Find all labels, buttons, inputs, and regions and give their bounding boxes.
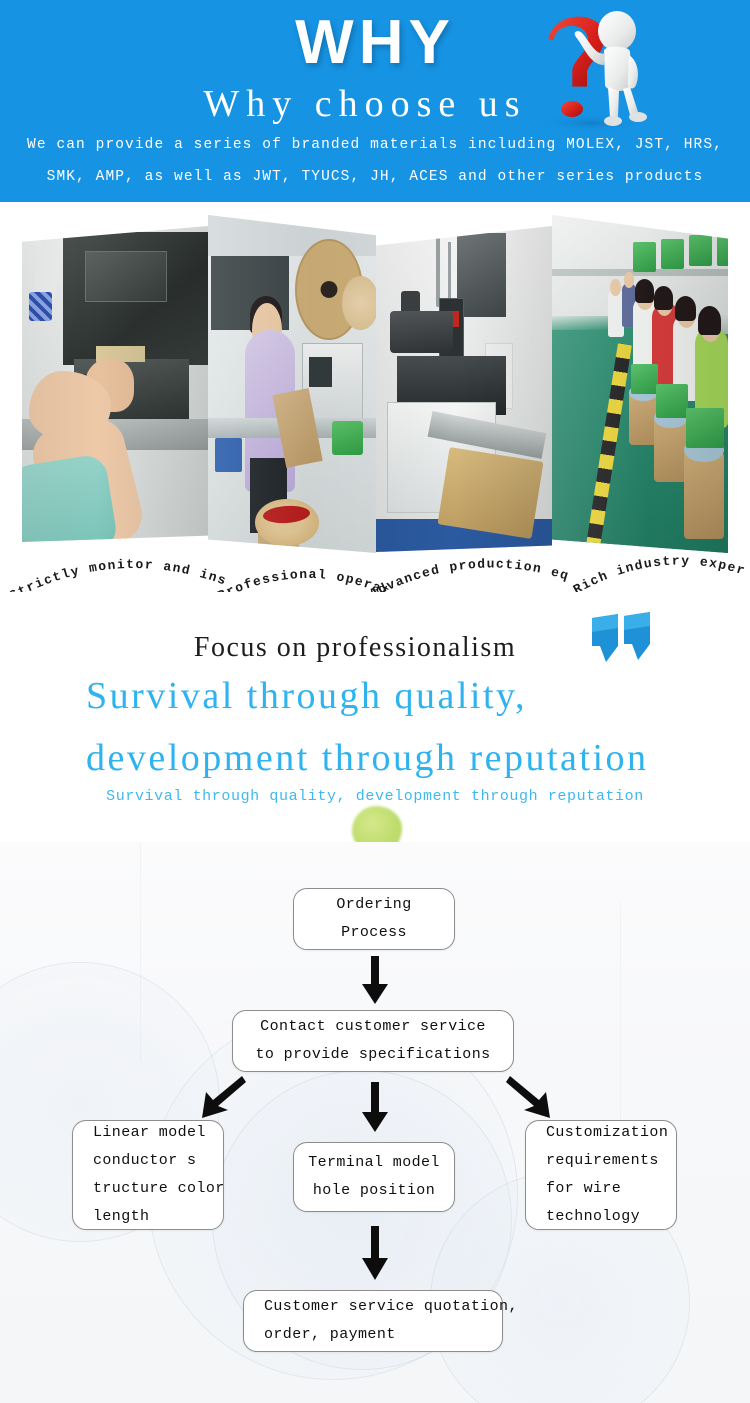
flow-box-linear-line-3: tructure color [93,1175,223,1203]
slogan-subline: Survival through quality, development th… [0,788,750,805]
flow-box-ordering-line-2: Process [294,919,454,947]
photo-panel-inspection [22,226,208,542]
flow-box-customer-service-quotation[interactable]: Customer service quotation, order, payme… [243,1290,503,1352]
header-description-line-2: SMK, AMP, as well as JWT, TYUCS, JH, ACE… [0,169,750,185]
photo-panel-operator [208,215,376,553]
slogan-line-2: development through reputation [86,736,649,780]
flow-box-terminal-line-1: Terminal model [294,1149,454,1177]
flow-box-linear-model[interactable]: Linear model conductor s tructure color … [72,1120,224,1230]
flow-box-contact-line-2: to provide specifications [233,1041,513,1069]
flow-box-terminal-line-2: hole position [294,1177,454,1205]
arrow-down-terminal-to-quote [358,1226,392,1282]
arrow-down-order-to-contact [358,956,392,1006]
double-quote-icon [588,612,658,670]
arrow-down-left-to-linear [196,1074,246,1120]
caption-text-4: Rich industry experience [572,554,748,597]
svg-text:Rich industry experience: Rich industry experience [572,554,748,597]
flow-box-custom-line-1: Customization [546,1119,676,1147]
photo-panel-assembly-line [552,215,728,553]
flow-box-contact-customer-service[interactable]: Contact customer service to provide spec… [232,1010,514,1072]
question-mark-figure-icon [520,5,660,133]
flow-box-quote-line-2: order, payment [264,1321,502,1349]
header-description-line-1: We can provide a series of branded mater… [0,137,750,153]
flow-box-custom-line-4: technology [546,1203,676,1231]
flow-box-linear-line-4: length [93,1203,223,1231]
arrow-down-to-terminal [358,1082,392,1134]
flow-box-terminal-model[interactable]: Terminal model hole position [293,1142,455,1212]
slogan-line-1: Survival through quality, [86,674,527,718]
header-banner: WHY Why choose us We can provide a serie… [0,0,750,202]
watermark-line-1 [140,842,141,1062]
flow-box-linear-line-2: conductor s [93,1147,223,1175]
flow-box-quote-line-1: Customer service quotation, [264,1293,502,1321]
ordering-process-flowchart: Ordering Process Contact customer servic… [0,842,750,1403]
flow-box-linear-line-1: Linear model [93,1119,223,1147]
flow-box-ordering-line-1: Ordering [294,891,454,919]
flow-box-ordering-process[interactable]: Ordering Process [293,888,455,950]
flow-box-custom-line-3: for wire [546,1175,676,1203]
photo-collage: Strictly monitor and inspect Professiona… [0,202,750,592]
photo-panel-equipment [376,226,552,552]
arrow-down-right-to-custom [506,1074,556,1120]
flow-box-contact-line-1: Contact customer service [233,1013,513,1041]
flow-box-custom-line-2: requirements [546,1147,676,1175]
flow-box-customization-requirements[interactable]: Customization requirements for wire tech… [525,1120,677,1230]
